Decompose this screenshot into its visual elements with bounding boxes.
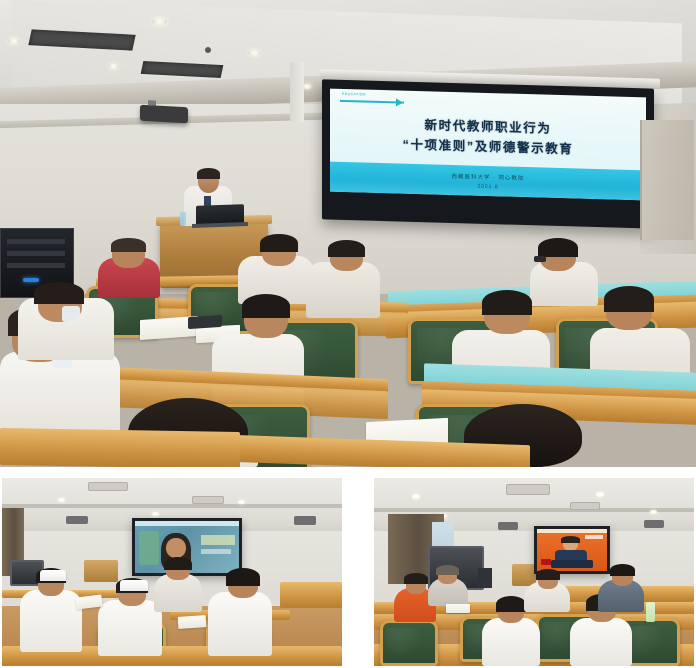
downlight-icon xyxy=(412,494,420,499)
downlight-icon xyxy=(248,50,261,56)
attendee-hair xyxy=(164,557,192,570)
video-toolbar xyxy=(135,521,239,526)
bottom-right-photo-audience xyxy=(374,478,694,666)
slide-title: 新时代教师职业行为 “十项准则”及师德警示教育 xyxy=(330,113,646,162)
ceiling-column xyxy=(290,62,304,122)
broadcast-caption-bar xyxy=(585,535,603,539)
face-mask-icon xyxy=(62,306,80,322)
ceiling-cornice xyxy=(374,508,694,512)
attendee-hair xyxy=(538,238,578,257)
wall-ac-unit-icon xyxy=(66,516,88,524)
note-paper xyxy=(178,615,207,629)
attendee-hair xyxy=(482,290,532,315)
water-bottle-icon xyxy=(646,602,655,622)
downlight-icon xyxy=(238,500,245,504)
phone-icon xyxy=(188,315,222,329)
main-photo-lecture-hall: EDUCATION 新时代教师职业行为 “十项准则”及师德警示教育 西藏医科大学… xyxy=(0,0,696,467)
chair xyxy=(380,620,438,666)
screen-broadcast-frame xyxy=(537,529,607,571)
video-caption-bar xyxy=(201,549,231,554)
ceiling-sensor-icon xyxy=(205,47,211,53)
slide-deco-label: EDUCATION xyxy=(342,92,366,97)
projection-screen xyxy=(534,526,610,574)
speaker-hair xyxy=(197,168,220,179)
ac-vent-icon xyxy=(88,482,128,491)
wall-ac-unit-icon xyxy=(644,520,664,528)
rack-slot xyxy=(7,239,65,244)
power-led-icon xyxy=(23,278,39,282)
projector-icon xyxy=(140,105,188,124)
attendee-hair xyxy=(242,294,290,318)
slide-footer-band: 西藏医科大学 · 同心教院 2021.8 xyxy=(330,162,646,201)
broadcast-speaker-hair xyxy=(561,536,580,543)
photo-collage: EDUCATION 新时代教师职业行为 “十项准则”及师德警示教育 西藏医科大学… xyxy=(0,0,696,668)
attendee-hair xyxy=(536,569,560,580)
attendee-torso xyxy=(570,618,632,666)
nurse-cap-icon xyxy=(120,580,148,591)
podium xyxy=(84,560,118,582)
desk-front-panel xyxy=(0,428,240,467)
ceiling-cornice xyxy=(2,504,342,508)
side-desk xyxy=(280,582,342,608)
ac-vent-icon xyxy=(506,484,550,495)
attendee-hair xyxy=(260,234,298,252)
wall-ac-unit-icon xyxy=(498,522,518,530)
broadcast-logo-icon xyxy=(541,559,551,565)
panel-divider-vertical xyxy=(342,467,374,668)
attendee-hair xyxy=(226,568,260,586)
ac-vent-icon xyxy=(570,502,600,510)
downlight-icon xyxy=(8,38,20,44)
video-subject-face xyxy=(166,538,186,558)
video-background-foliage xyxy=(139,531,159,565)
water-bottle-icon xyxy=(180,212,186,226)
laptop-icon xyxy=(196,204,244,226)
rack-slot xyxy=(7,263,65,268)
attendee-hair xyxy=(610,564,635,576)
attendee-hair xyxy=(496,596,526,612)
side-door xyxy=(640,120,694,240)
attendee-torso xyxy=(482,618,540,666)
speaker-box-icon xyxy=(478,568,492,588)
attendee-hair xyxy=(436,565,459,575)
attendee-hair xyxy=(111,238,146,252)
attendee-torso xyxy=(208,592,272,656)
broadcast-desk xyxy=(551,560,593,568)
projection-screen: EDUCATION 新时代教师职业行为 “十项准则”及师德警示教育 西藏医科大学… xyxy=(322,79,654,228)
downlight-icon xyxy=(58,498,65,502)
downlight-icon xyxy=(108,64,119,69)
attendee-hair xyxy=(328,240,365,257)
nurse-cap-icon xyxy=(40,570,66,581)
downlight-icon xyxy=(650,510,657,514)
eyeglasses-icon xyxy=(534,256,546,262)
attendee-torso xyxy=(20,590,82,652)
video-background-block xyxy=(201,535,235,545)
note-paper xyxy=(446,604,470,613)
slide-accent-arrow-icon xyxy=(340,100,404,104)
rack-slot xyxy=(7,251,65,256)
wall-ac-unit-icon xyxy=(294,516,316,525)
bottom-left-photo-nurses xyxy=(2,478,342,666)
attendee-hair xyxy=(604,286,654,312)
ac-vent-icon xyxy=(192,496,224,504)
downlight-icon xyxy=(596,492,604,497)
attendee-hair xyxy=(34,282,84,304)
attendee-hair xyxy=(404,573,428,584)
broadcast-top-bar xyxy=(537,529,607,533)
downlight-icon xyxy=(152,18,167,25)
downlight-icon xyxy=(152,512,159,516)
attendee-torso xyxy=(98,600,162,656)
presentation-slide: EDUCATION 新时代教师职业行为 “十项准则”及师德警示教育 西藏医科大学… xyxy=(330,89,646,201)
